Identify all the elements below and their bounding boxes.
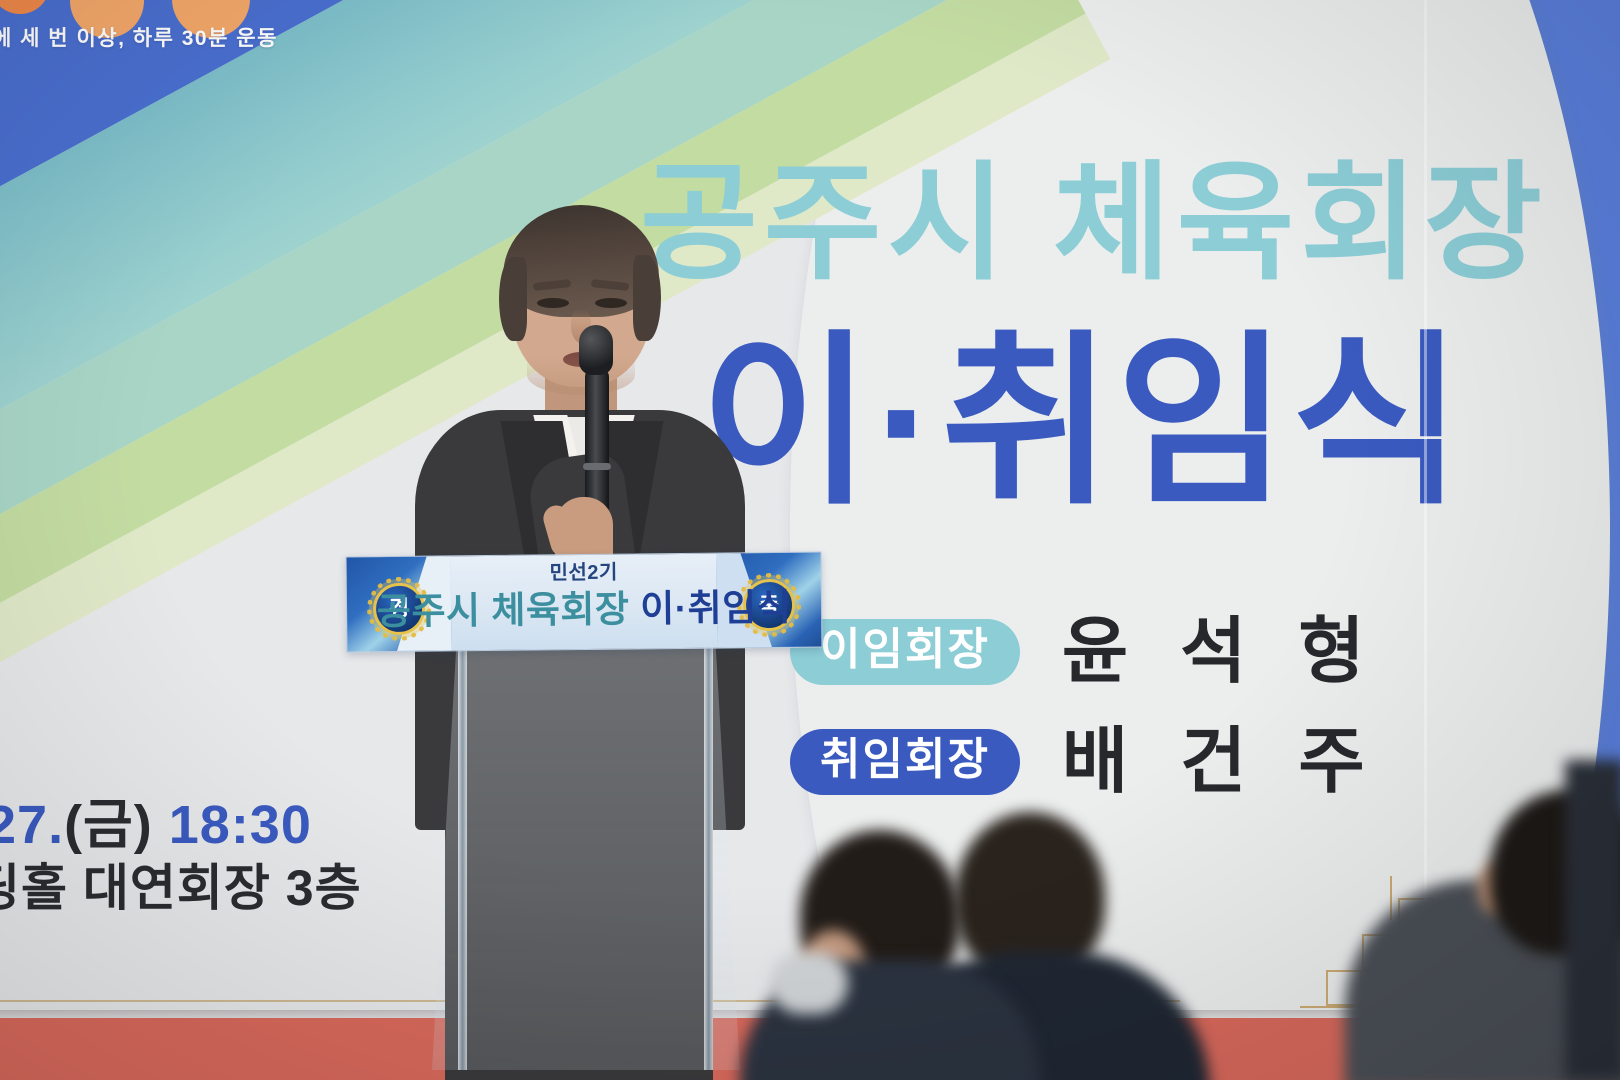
role-row-incoming: 취임회장 배 건 주 — [790, 726, 1381, 798]
event-photo: 에 세 번 이상, 하루 30분 운동 공주시 체육회장 이·취임식 이임회장 … — [0, 0, 1620, 1080]
role-name-incoming: 배 건 주 — [1062, 726, 1381, 798]
event-day-of-week: (금) — [64, 795, 153, 855]
microphone-icon — [579, 325, 613, 375]
podium-nameplate-sign: 경 축 민선2기 공주시 체육회장 이·취임식 — [346, 552, 823, 653]
stage-floor-carpet — [0, 1018, 1620, 1080]
podium-edge-right — [704, 640, 713, 1070]
microphone-body — [585, 367, 609, 517]
role-name-outgoing: 윤 석 형 — [1062, 616, 1381, 688]
sign-title-org: 공주시 체육회장 — [377, 589, 630, 633]
sign-title-event: 이·취임식 — [640, 587, 791, 630]
role-badge-outgoing: 이임회장 — [790, 619, 1020, 685]
speaker-hair-side-left — [499, 257, 527, 341]
banner-seam-vertical — [1424, 0, 1427, 1080]
event-date-number: 27. — [0, 795, 64, 855]
speaker-eye-left — [537, 298, 569, 308]
sign-title: 공주시 체육회장 이·취임식 — [347, 589, 821, 633]
gold-rule-right — [1300, 1006, 1400, 1008]
podium-acrylic-panel — [432, 640, 740, 1070]
podium: 경 축 민선2기 공주시 체육회장 이·취임식 — [432, 640, 740, 1070]
speaker-eye-right — [595, 298, 627, 308]
event-venue: 딩홀 대연회장 3층 — [0, 848, 362, 920]
gold-stairstep-ornament — [1326, 898, 1446, 1006]
podium-edge-left — [458, 640, 467, 1070]
role-row-outgoing: 이임회장 윤 석 형 — [790, 616, 1381, 688]
gold-vertical-rule — [1390, 876, 1392, 920]
microphone-ring — [583, 463, 611, 470]
role-badge-incoming: 취임회장 — [790, 729, 1020, 795]
backdrop-banner: 에 세 번 이상, 하루 30분 운동 공주시 체육회장 이·취임식 이임회장 … — [0, 0, 1620, 1080]
speaker-hair-side-right — [633, 255, 661, 341]
campaign-slogan: 에 세 번 이상, 하루 30분 운동 — [0, 22, 278, 52]
banner-heading-primary: 공주시 체육회장 — [640, 160, 1548, 288]
event-time: 18:30 — [169, 795, 312, 855]
banner-heading-secondary: 이·취임식 — [700, 330, 1466, 516]
